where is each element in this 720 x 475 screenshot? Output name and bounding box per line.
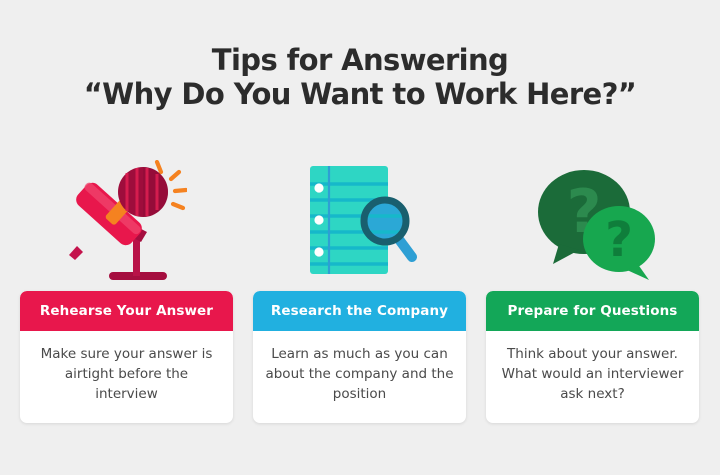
infographic-poster: Tips for Answering “Why Do You Want to W… <box>0 0 720 475</box>
tip-card-rehearse: Rehearse Your Answer Make sure your answ… <box>20 291 233 423</box>
tip-card-body-text: Make sure your answer is airtight before… <box>32 345 221 405</box>
speech-bubble-front: ? <box>583 206 655 280</box>
tip-card-body-text: Learn as much as you can about the compa… <box>265 345 454 405</box>
icon-slot-prepare: ? ? <box>486 158 699 288</box>
tip-card-body-text: Think about your answer. What would an i… <box>498 345 687 405</box>
page-title: Tips for Answering “Why Do You Want to W… <box>0 44 720 111</box>
title-line-1: Tips for Answering <box>0 44 720 78</box>
mic-head <box>118 167 168 217</box>
title-line-2: “Why Do You Want to Work Here?” <box>0 78 720 112</box>
tips-cards-row: Rehearse Your Answer Make sure your answ… <box>0 291 720 425</box>
question-mark-front: ? <box>605 212 633 268</box>
tip-card-prepare: Prepare for Questions Think about your a… <box>486 291 699 423</box>
icon-slot-research <box>253 158 466 288</box>
tip-card-body: Make sure your answer is airtight before… <box>20 331 233 423</box>
question-speech-bubbles-icon: ? ? <box>529 162 657 284</box>
tip-card-heading: Research the Company <box>253 291 466 331</box>
tip-card-body: Think about your answer. What would an i… <box>486 331 699 423</box>
icons-row: ? ? <box>0 158 720 288</box>
tip-card-heading: Rehearse Your Answer <box>20 291 233 331</box>
tip-card-body: Learn as much as you can about the compa… <box>253 331 466 423</box>
tip-card-heading: Prepare for Questions <box>486 291 699 331</box>
icon-slot-rehearse <box>20 158 233 288</box>
tip-card-research: Research the Company Learn as much as yo… <box>253 291 466 423</box>
notebook-page-with-magnifier-icon <box>298 162 422 284</box>
microphone-icon <box>67 160 187 286</box>
